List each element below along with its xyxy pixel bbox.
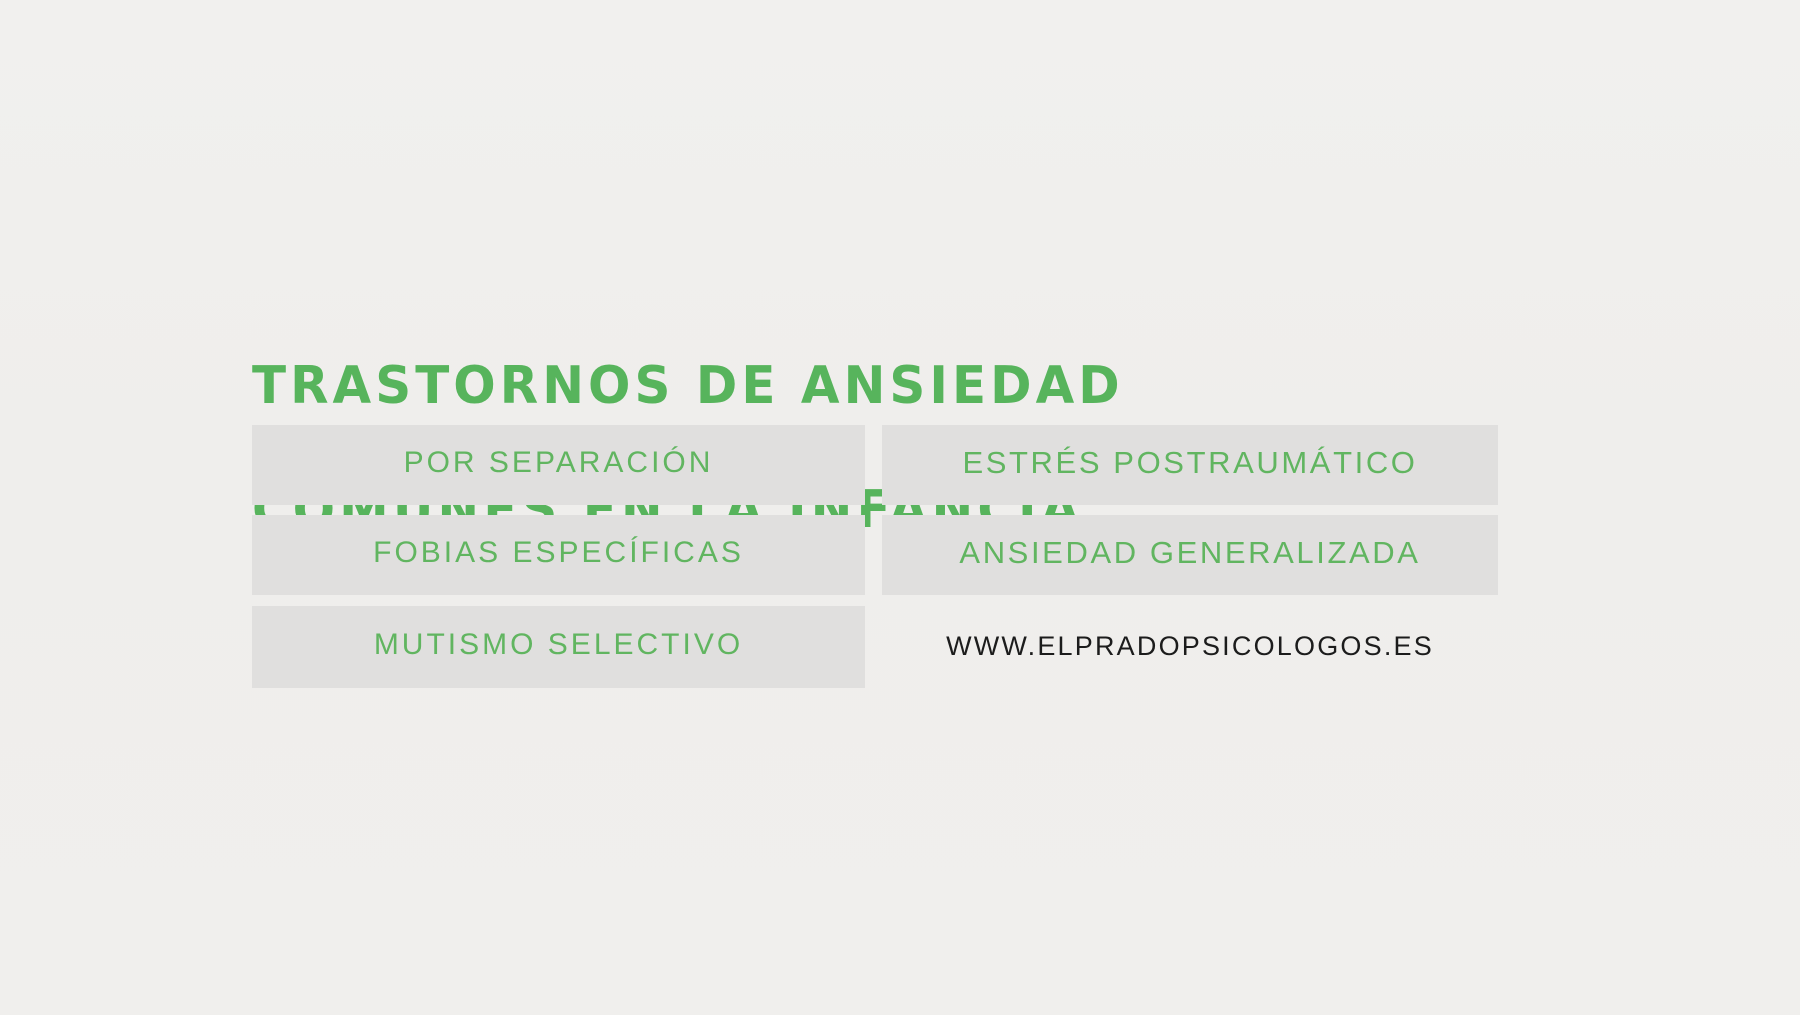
card-label: ANSIEDAD GENERALIZADA [959, 535, 1420, 571]
infographic-canvas: TRASTORNOS DE ANSIEDAD COMUNES EN LA INF… [0, 0, 1800, 1015]
card-label: FOBIAS ESPECÍFICAS [373, 536, 744, 570]
card-label: ESTRÉS POSTRAUMÁTICO [962, 445, 1417, 481]
card-generalized-anxiety[interactable]: ANSIEDAD GENERALIZADA [882, 515, 1498, 595]
card-post-traumatic-stress[interactable]: ESTRÉS POSTRAUMÁTICO [882, 425, 1498, 505]
website-url[interactable]: WWW.ELPRADOPSICOLOGOS.ES [882, 606, 1498, 688]
card-selective-mutism[interactable]: MUTISMO SELECTIVO [252, 606, 865, 688]
card-separation-anxiety[interactable]: POR SEPARACIÓN [252, 425, 865, 505]
card-label: POR SEPARACIÓN [404, 446, 714, 480]
disorder-card-grid: POR SEPARACIÓN FOBIAS ESPECÍFICAS MUTISM… [252, 425, 1498, 690]
page-title-line-1: TRASTORNOS DE ANSIEDAD [252, 355, 1212, 417]
card-label: MUTISMO SELECTIVO [374, 628, 743, 662]
card-specific-phobias[interactable]: FOBIAS ESPECÍFICAS [252, 515, 865, 595]
website-url-label: WWW.ELPRADOPSICOLOGOS.ES [946, 631, 1434, 662]
